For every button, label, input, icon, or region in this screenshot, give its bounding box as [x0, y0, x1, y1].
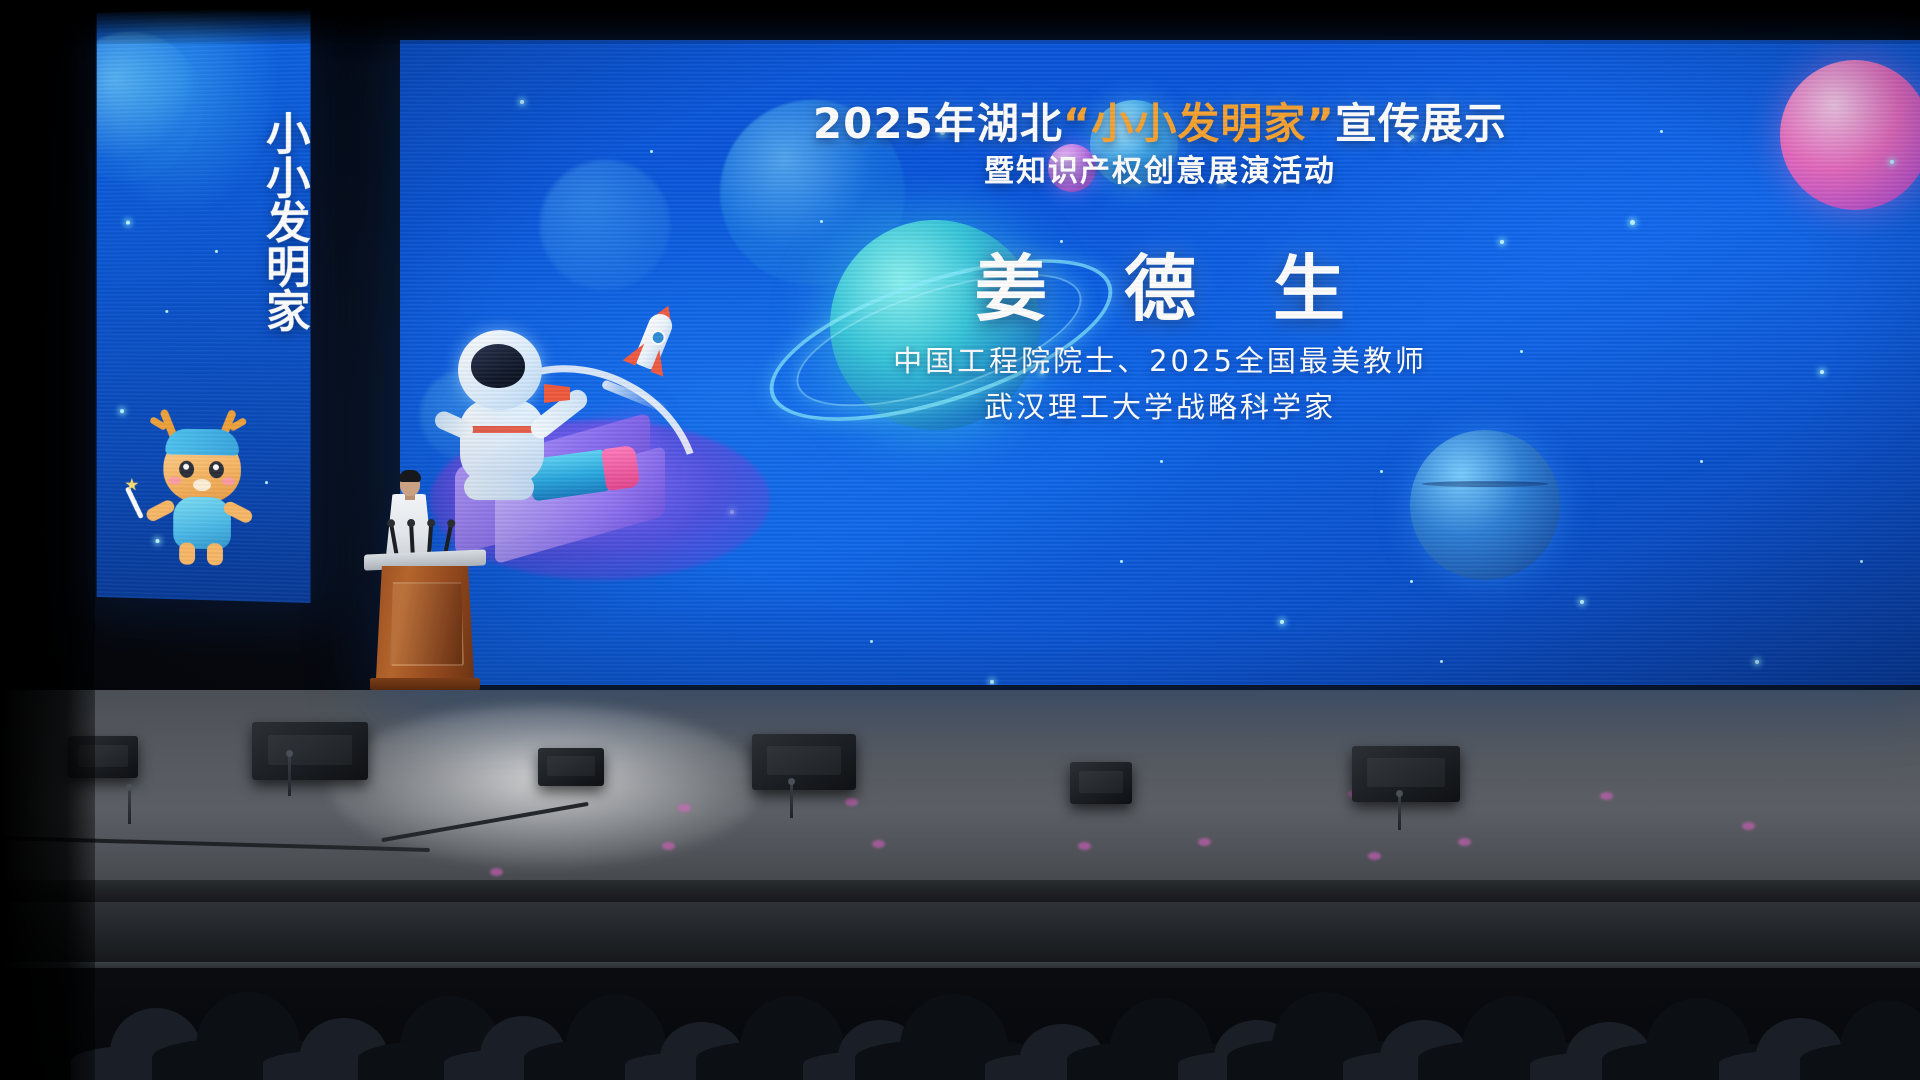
stage-floor-marker: [1368, 852, 1381, 860]
stage-floor-marker: [1078, 842, 1091, 850]
left-edge-shadow: [0, 0, 95, 1080]
top-edge-shadow: [0, 0, 1920, 44]
stage-floor-marker: [1458, 838, 1471, 846]
stage-floor-marker: [1600, 792, 1613, 800]
speaker-credential-line-2: 武汉理工大学战略科学家: [600, 384, 1720, 426]
stage-monitor-speaker: [252, 722, 368, 780]
stage-scene: 2025年湖北“小小发明家”宣传展示 暨知识产权创意展演活动 姜 德 生 中国工…: [0, 0, 1920, 1080]
speaker-name: 姜 德 生: [600, 230, 1720, 335]
wooden-podium: [370, 552, 480, 697]
stage-monitor-speaker: [1352, 746, 1460, 802]
stage-floor-marker: [1742, 822, 1755, 830]
event-title-highlight: “小小发明家”: [1063, 99, 1335, 148]
deer-mascot-icon: [138, 404, 267, 571]
audience-silhouettes: [0, 968, 1920, 1080]
microphone-stand: [128, 790, 131, 824]
stage-monitor-speaker: [1070, 762, 1132, 804]
stage-floor-marker: [490, 868, 503, 876]
navy-planet-icon: [1410, 430, 1560, 580]
stage-floor-marker: [662, 842, 675, 850]
side-banner-screen: 小小发明家: [97, 7, 311, 603]
event-title-prefix: 2025年湖北: [813, 99, 1063, 148]
stage-front-edge: [0, 880, 1920, 902]
event-title: 2025年湖北“小小发明家”宣传展示: [400, 90, 1920, 151]
event-subtitle: 暨知识产权创意展演活动: [400, 146, 1920, 190]
stage-monitor-speaker: [538, 748, 604, 786]
stage-floor-marker: [845, 798, 858, 806]
stage-floor-marker: [1198, 838, 1211, 846]
microphone-stand: [1398, 796, 1401, 830]
stage-floor-marker: [872, 840, 885, 848]
microphone-stand: [790, 784, 793, 818]
event-title-suffix: 宣传展示: [1335, 99, 1507, 148]
stage-monitor-speaker: [752, 734, 856, 790]
stage-floor-marker: [678, 804, 691, 812]
speaker-credential-line-1: 中国工程院院士、2025全国最美教师: [600, 338, 1720, 380]
main-led-screen: 2025年湖北“小小发明家”宣传展示 暨知识产权创意展演活动 姜 德 生 中国工…: [400, 40, 1920, 685]
side-banner-title: 小小发明家: [97, 70, 311, 373]
astronaut-icon: [440, 330, 590, 520]
microphone-stand: [288, 756, 291, 796]
